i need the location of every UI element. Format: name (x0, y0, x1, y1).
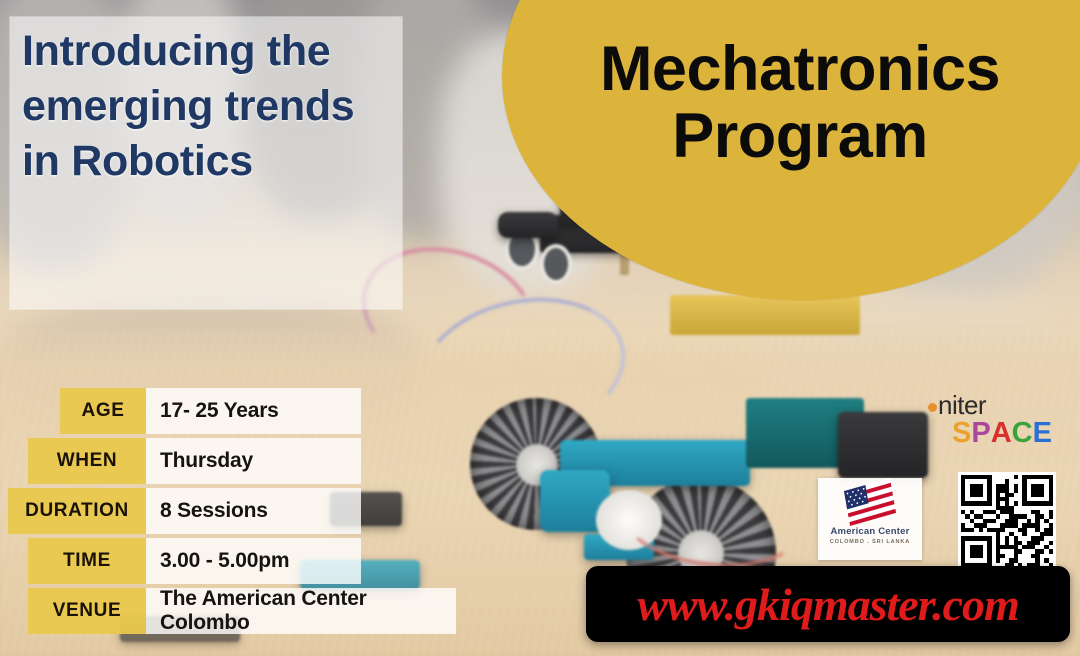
program-title-line-1: Mechatronics (540, 36, 1060, 103)
american-center-logo: American Center COLOMBO . SRI LANKA (818, 478, 922, 560)
space-letter-p: P (971, 419, 990, 448)
qr-code-matrix (961, 475, 1053, 567)
space-letter-s: S (952, 419, 971, 448)
table-row-value: 3.00 - 5.00pm (146, 538, 361, 584)
table-row-label: DURATION (8, 488, 146, 534)
promotional-flyer: Mechatronics Program Introducing the eme… (0, 0, 1080, 656)
qr-code[interactable] (958, 472, 1056, 570)
igniter-space-logo: niter SPACE (928, 392, 1078, 448)
american-center-name: American Center (818, 526, 922, 537)
american-center-subtitle: COLOMBO . SRI LANKA (818, 539, 922, 545)
program-title: Mechatronics Program (540, 36, 1060, 170)
space-letter-c: C (1012, 419, 1033, 448)
website-url: www.gkiqmaster.com (637, 578, 1019, 631)
table-row: AGE 17- 25 Years (0, 388, 520, 434)
table-row-label: AGE (60, 388, 146, 434)
table-row: TIME 3.00 - 5.00pm (0, 538, 520, 584)
table-row-label: VENUE (28, 588, 146, 634)
igniter-dot-icon (928, 403, 937, 412)
table-row: WHEN Thursday (0, 438, 520, 484)
website-url-banner[interactable]: www.gkiqmaster.com (586, 566, 1070, 642)
table-row-label: WHEN (28, 438, 146, 484)
headline: Introducing the emerging trends in Robot… (22, 24, 382, 189)
space-letter-a: A (991, 419, 1012, 448)
table-row: VENUE The American Center Colombo (0, 588, 520, 634)
igniter-word-text: niter (938, 390, 986, 420)
table-row-value: 17- 25 Years (146, 388, 361, 434)
igniter-wordmark: niter (928, 392, 1078, 418)
table-row-value: 8 Sessions (146, 488, 361, 534)
details-table: AGE 17- 25 Years WHEN Thursday DURATION … (0, 388, 520, 638)
table-row-label: TIME (28, 538, 146, 584)
space-letter-e: E (1033, 419, 1052, 448)
us-flag-icon (844, 478, 896, 526)
space-wordmark: SPACE (952, 419, 1078, 448)
table-row-value: Thursday (146, 438, 361, 484)
table-row-value: The American Center Colombo (146, 588, 456, 634)
table-row: DURATION 8 Sessions (0, 488, 520, 534)
program-title-line-2: Program (540, 103, 1060, 170)
